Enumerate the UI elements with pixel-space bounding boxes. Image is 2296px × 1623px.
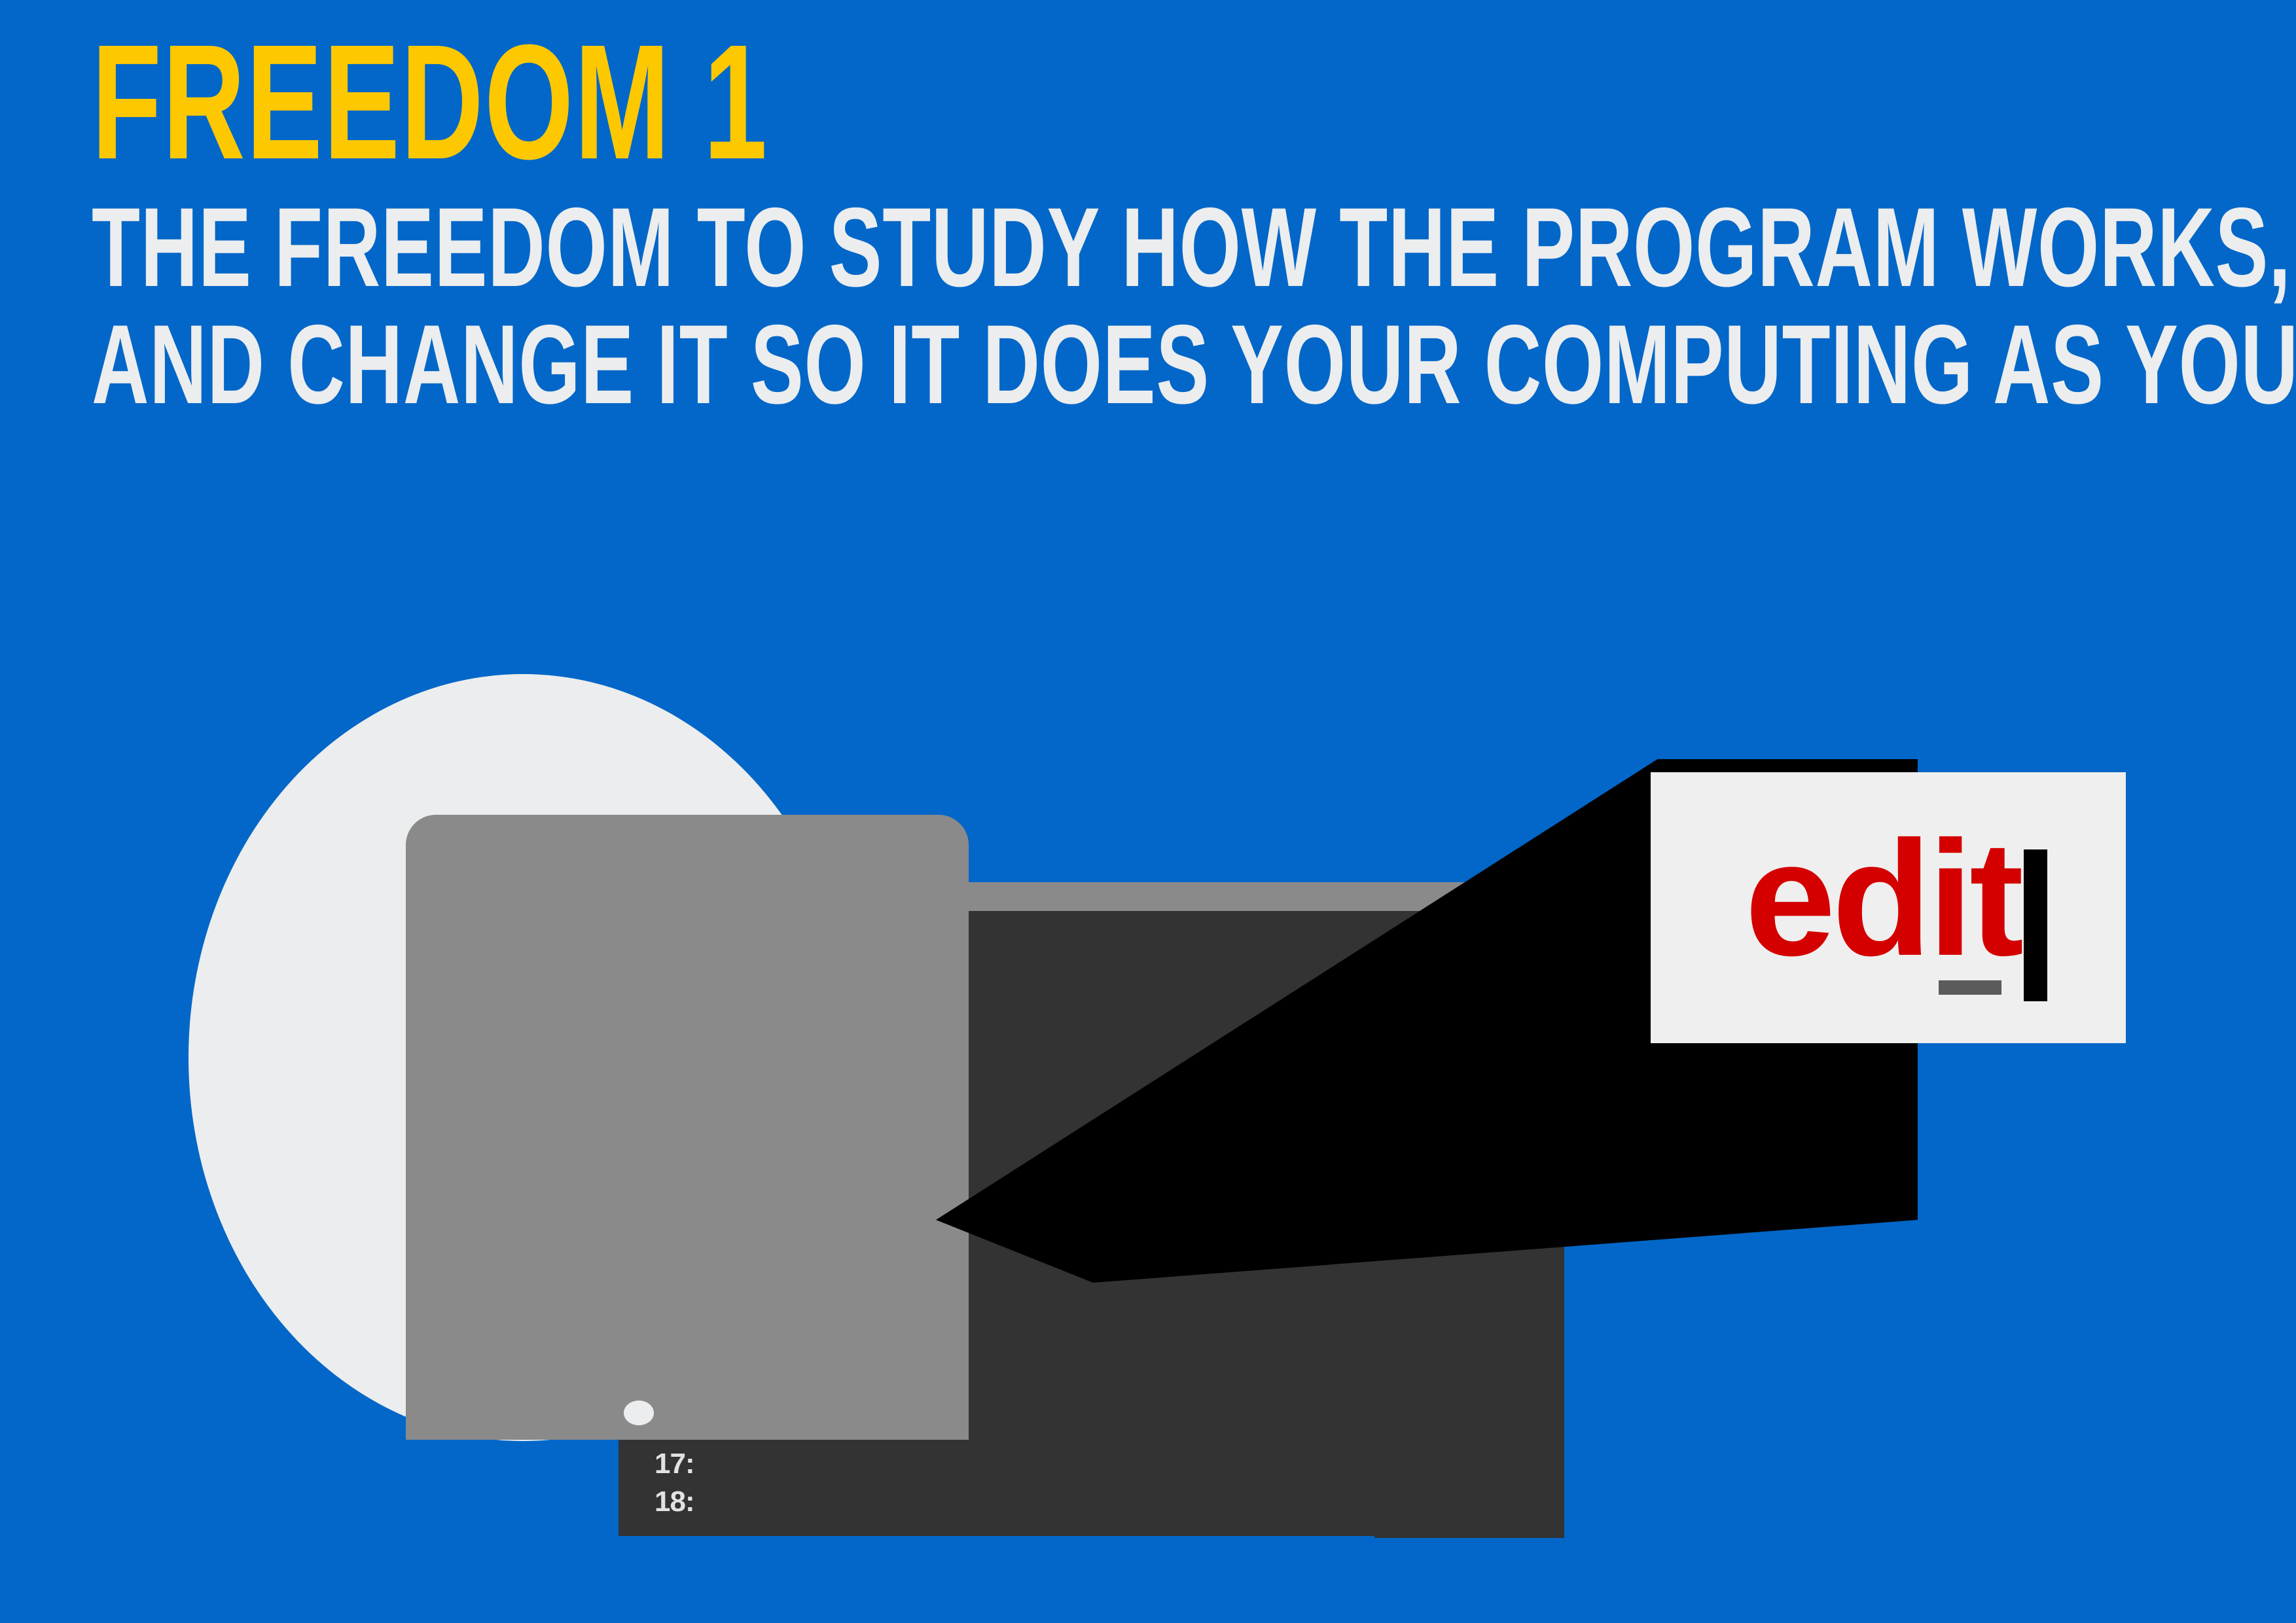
- screen-line-number: 17:: [655, 1445, 694, 1483]
- subtitle-line-1: THE FREEDOM TO STUDY HOW THE PROGRAM WOR…: [92, 190, 1615, 305]
- headline-block: FREEDOM 1 THE FREEDOM TO STUDY HOW THE P…: [92, 26, 2251, 422]
- edit-command-label: edit: [1745, 817, 2020, 980]
- callout-text-wrap: edit: [1651, 772, 2126, 1043]
- underscore-mark: [1939, 980, 2001, 995]
- page-title: FREEDOM 1: [92, 26, 1604, 179]
- subtitle-line-2: AND CHANGE IT SO IT DOES YOUR COMPUTING …: [92, 308, 1615, 422]
- screen-line-number: 18:: [655, 1483, 694, 1521]
- text-cursor-icon: [2024, 849, 2047, 1001]
- poster-canvas: FREEDOM 1 THE FREEDOM TO STUDY HOW THE P…: [0, 0, 2296, 1623]
- callout-box: edit: [1651, 772, 2126, 1043]
- screen-highlight-dot: [624, 1400, 654, 1425]
- code-editor-panel: [406, 815, 969, 1440]
